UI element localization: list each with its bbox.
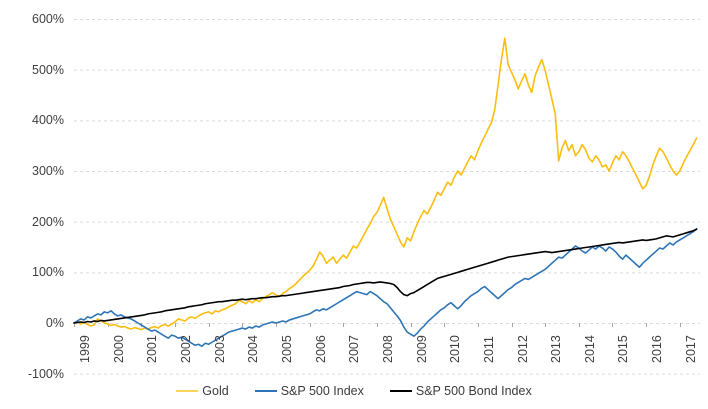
- chart-container: 600%500%400%300%200%100%0%-100% 19992000…: [0, 0, 708, 409]
- legend-swatch-line-icon: [390, 390, 412, 392]
- series-line-gold: [74, 38, 697, 329]
- series-line-s-p-500-bond-index: [74, 229, 697, 323]
- legend-label: S&P 500 Index: [281, 385, 364, 398]
- legend-item[interactable]: S&P 500 Index: [255, 385, 364, 398]
- series-lines-group: [74, 38, 697, 346]
- legend-swatch-line-icon: [176, 390, 198, 392]
- series-line-s-p-500-index: [74, 229, 697, 347]
- legend-swatch-line-icon: [255, 390, 277, 392]
- chart-legend: GoldS&P 500 IndexS&P 500 Bond Index: [0, 385, 708, 398]
- legend-label: S&P 500 Bond Index: [416, 385, 532, 398]
- gridlines-group: [74, 20, 700, 375]
- legend-item[interactable]: Gold: [176, 385, 228, 398]
- legend-label: Gold: [202, 385, 228, 398]
- chart-plot-area: [0, 0, 708, 409]
- legend-item[interactable]: S&P 500 Bond Index: [390, 385, 532, 398]
